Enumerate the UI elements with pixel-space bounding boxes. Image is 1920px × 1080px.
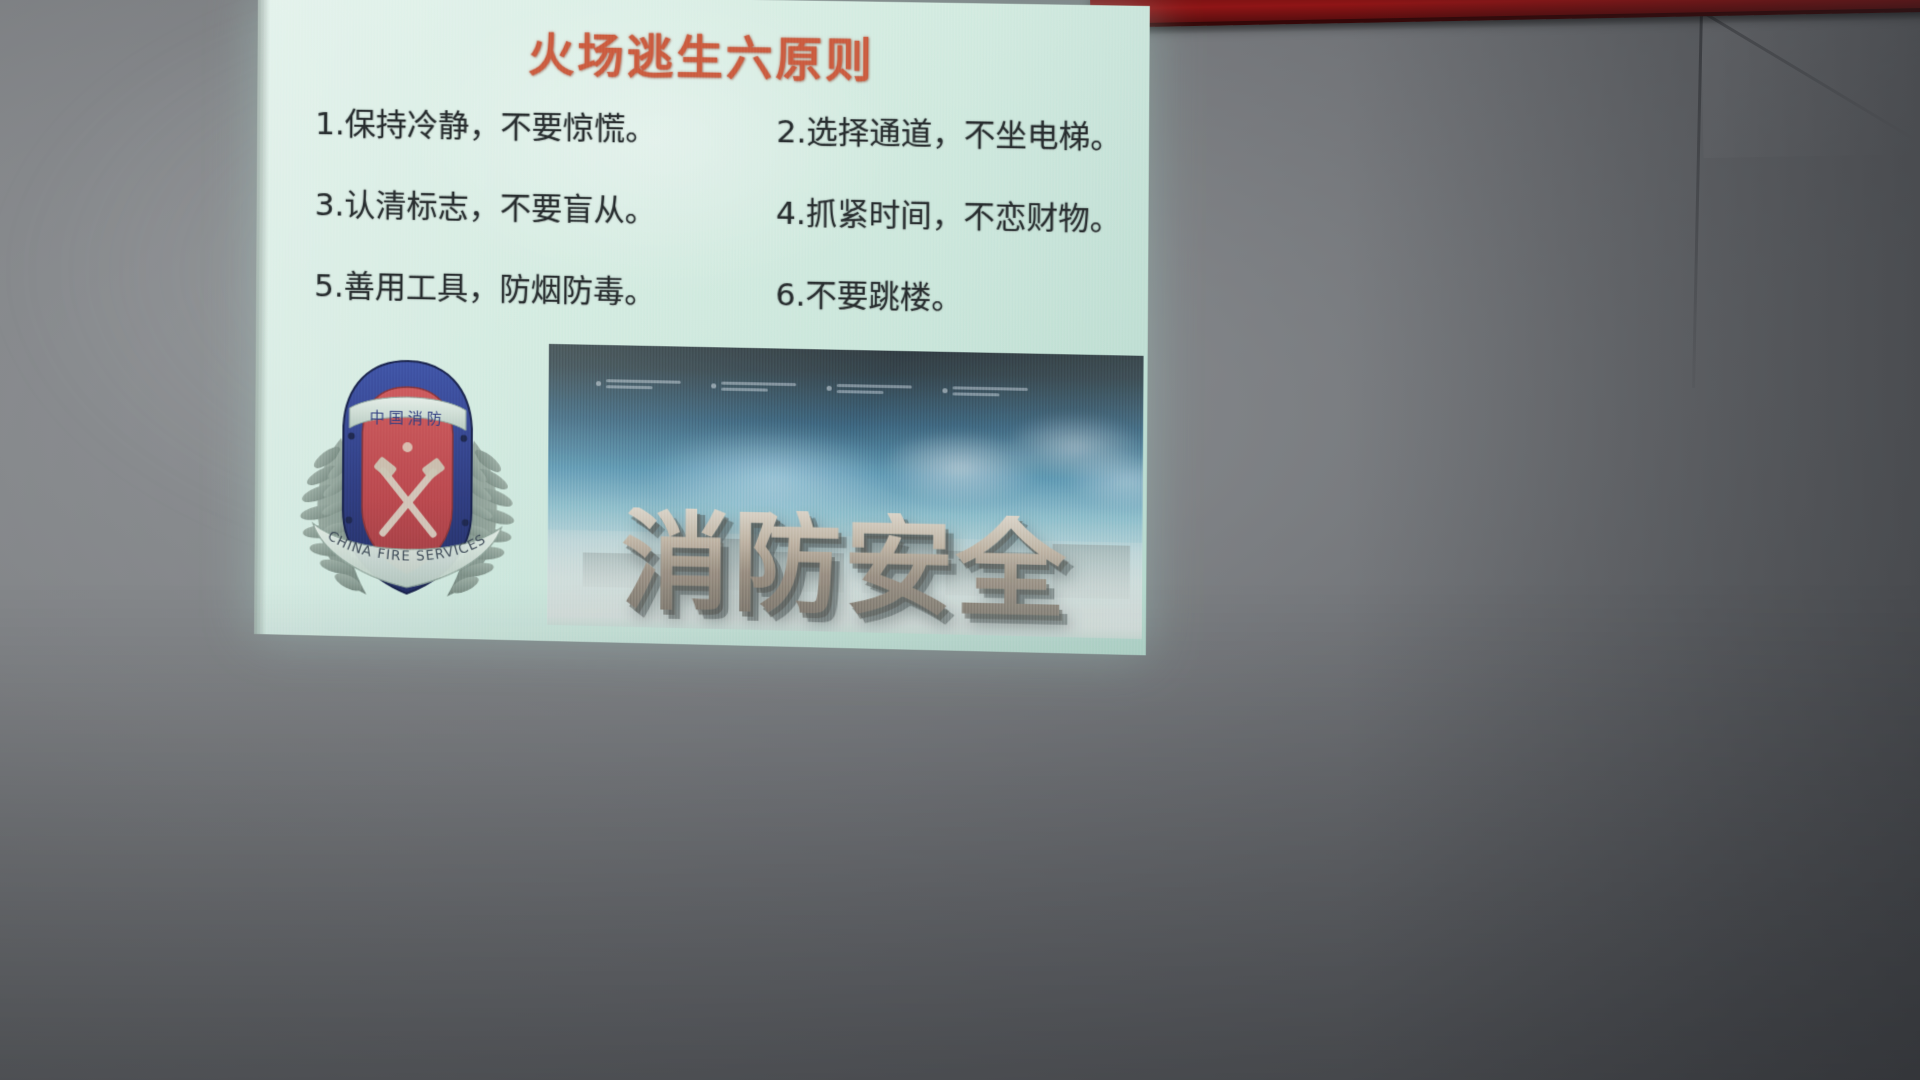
emblem-banner-text: 中国消防 [370, 408, 446, 428]
projection-screen: 火场逃生六原则 1.保持冷静，不要惊慌。 2.选择通道，不坐电梯。 3.认清标志… [254, 0, 1150, 655]
photo-chip [711, 381, 796, 392]
china-fire-services-emblem: 中国消防 CHINA FIRE SERVICES [282, 341, 533, 619]
photo-chip [596, 379, 681, 390]
rule-item-4: 4.抓紧时间，不恋财物。 [748, 194, 1133, 240]
wall-shadow-bottom [0, 583, 1920, 1080]
rule-item-5: 5.善用工具，防烟防毒。 [314, 267, 747, 314]
rule-item-1: 1.保持冷静，不要惊慌。 [315, 105, 748, 151]
slide-canvas: 火场逃生六原则 1.保持冷静，不要惊慌。 2.选择通道，不坐电梯。 3.认清标志… [254, 0, 1150, 655]
rule-item-3: 3.认清标志，不要盲从。 [315, 186, 748, 233]
photo-chip [942, 386, 1028, 397]
projector-room-photo: 火场逃生六原则 1.保持冷静，不要惊慌。 2.选择通道，不坐电梯。 3.认清标志… [0, 0, 1920, 1080]
chip-dot-icon [942, 388, 947, 393]
chip-dot-icon [711, 383, 716, 388]
chip-dot-icon [826, 385, 831, 390]
rule-item-6: 6.不要跳楼。 [747, 275, 1132, 322]
rule-item-2: 2.选择通道，不坐电梯。 [748, 112, 1133, 158]
rules-list: 1.保持冷静，不要惊慌。 2.选择通道，不坐电梯。 3.认清标志，不要盲从。 4… [314, 105, 1133, 321]
slide-left-shadow [254, 0, 270, 634]
photo-chip [826, 383, 911, 394]
photo-ui-chips [596, 379, 1108, 399]
chip-dot-icon [596, 381, 601, 386]
slide-title: 火场逃生六原则 [257, 26, 1149, 91]
